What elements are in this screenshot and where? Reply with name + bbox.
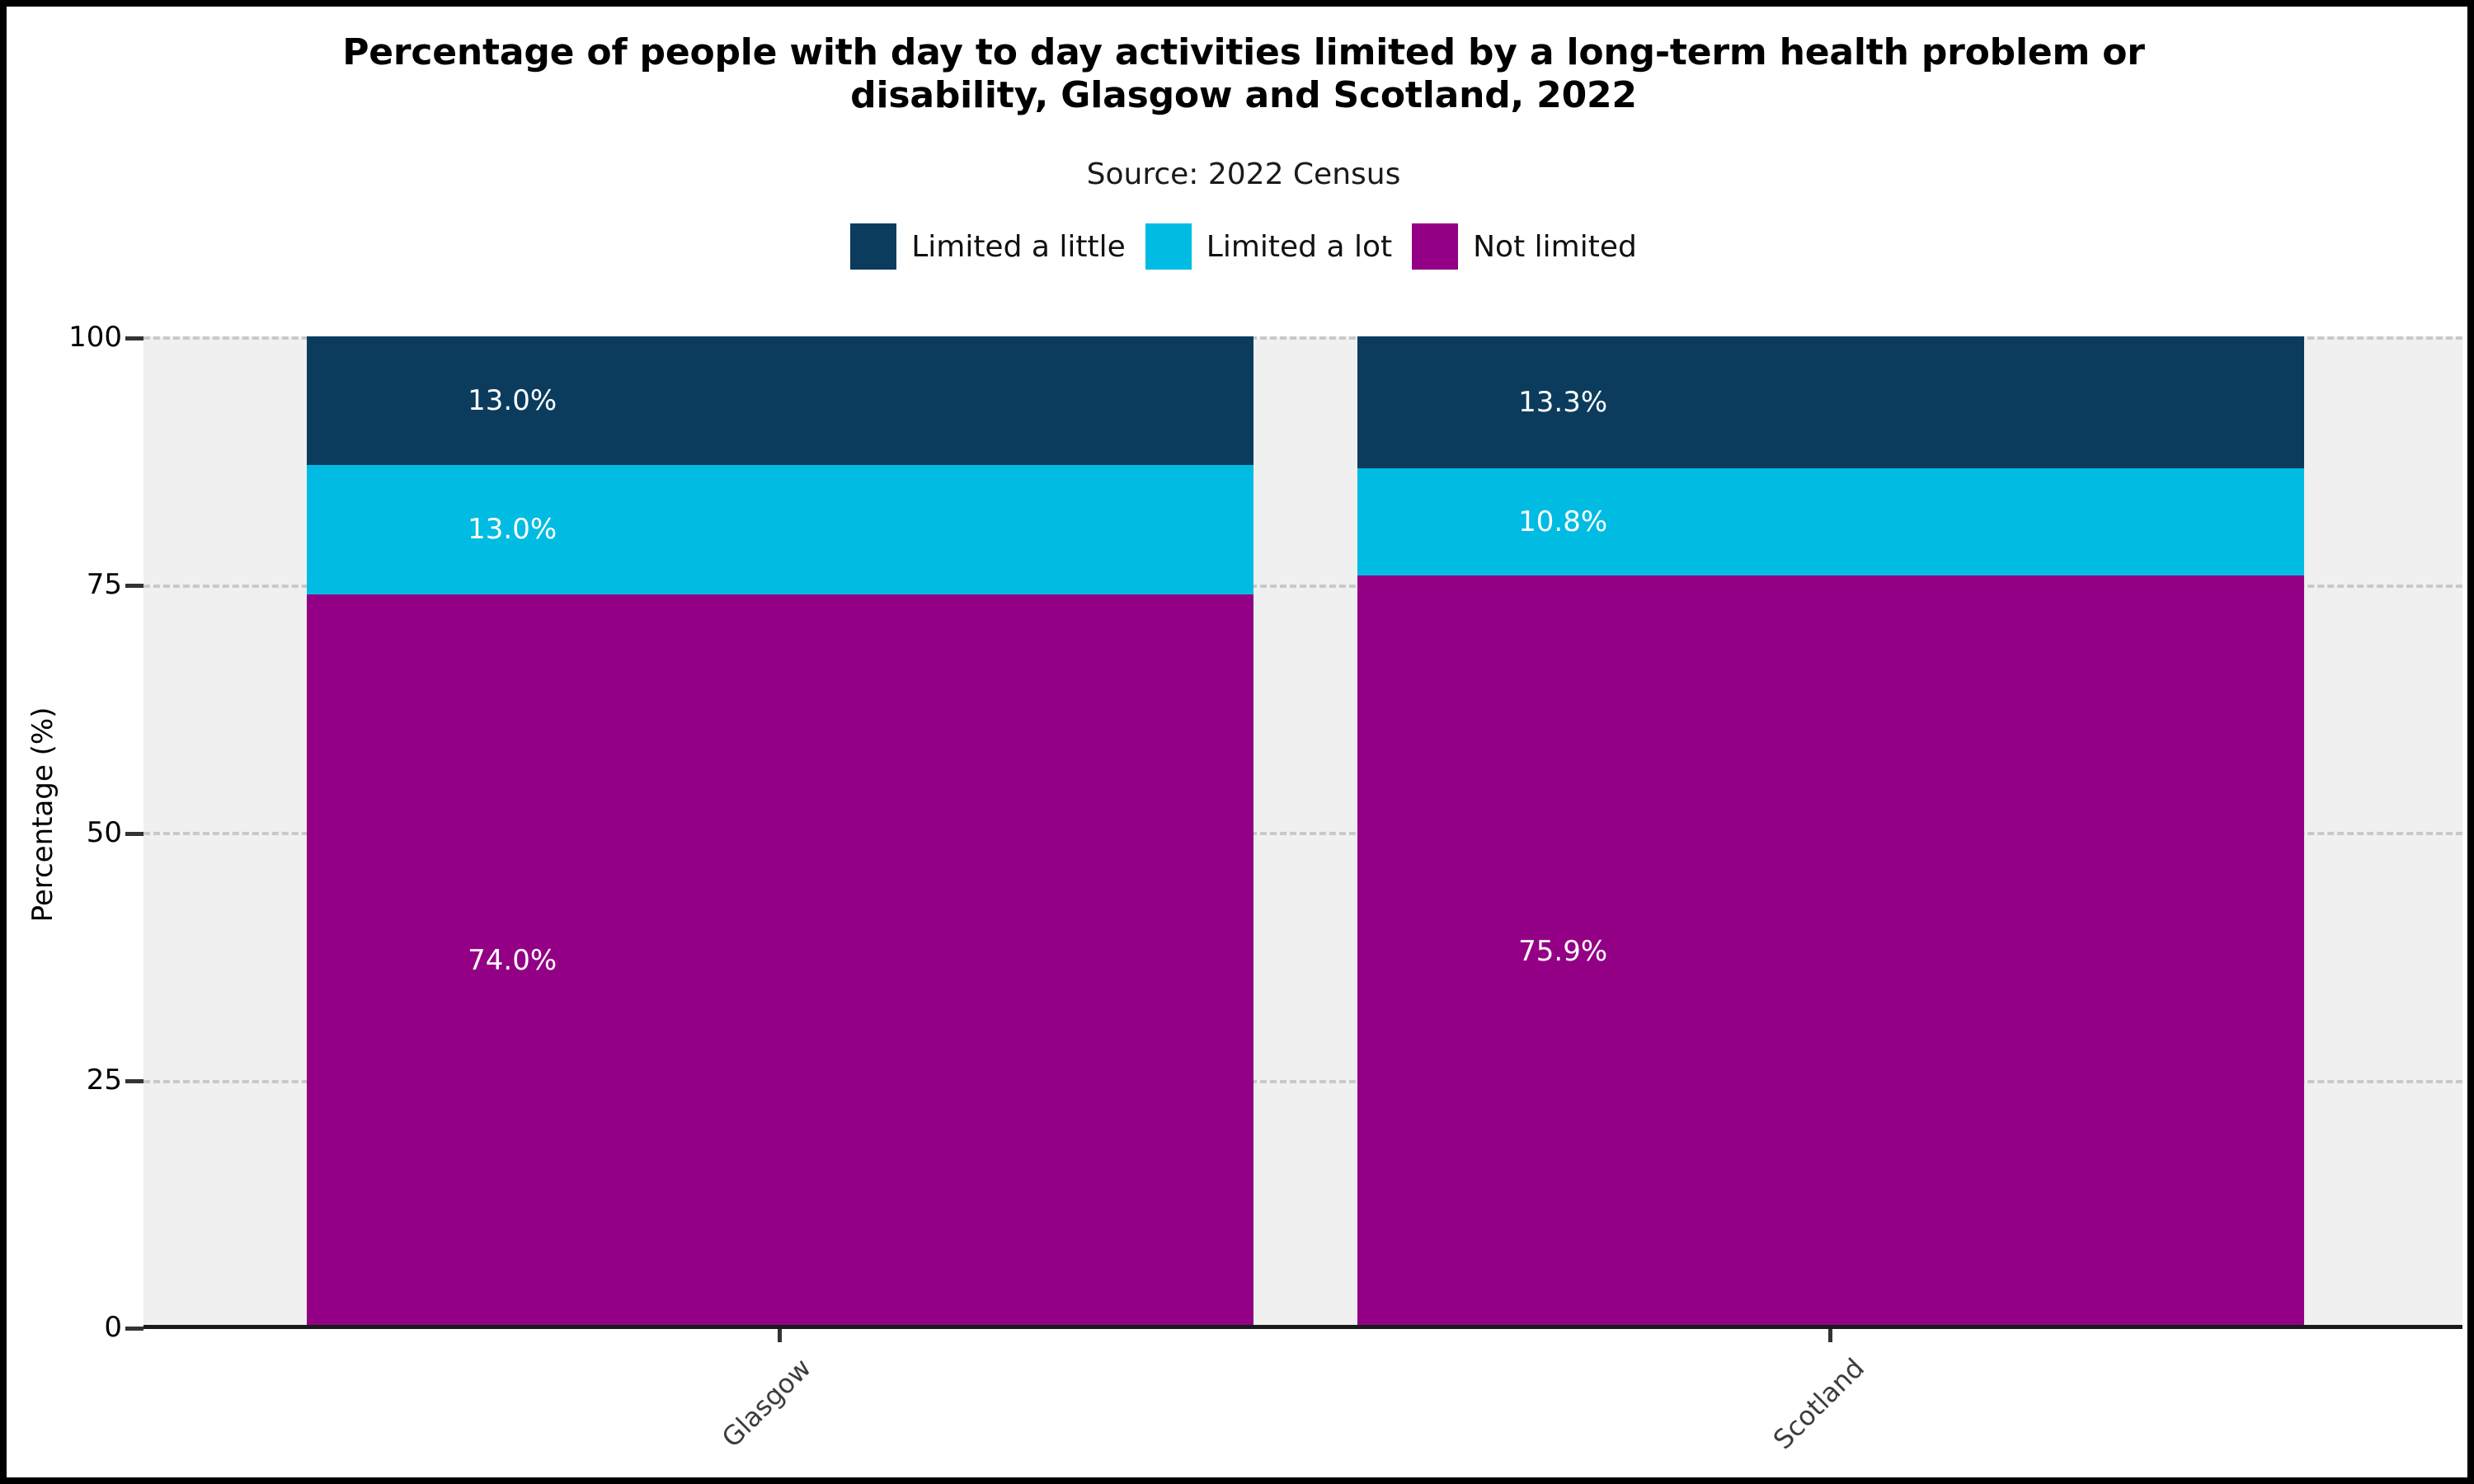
y-tick-mark-75: [125, 584, 143, 588]
y-tick-label-0: 0: [31, 1311, 122, 1344]
legend-item-not-limited[interactable]: Not limited: [1412, 223, 1637, 270]
chart-figure: Percentage of people with day to day act…: [0, 0, 2474, 1484]
bar-value-glasgow-limited-a-little: 13.0%: [468, 384, 557, 417]
y-axis-label: Percentage (%): [26, 501, 59, 1128]
chart-subtitle: Source: 2022 Census: [7, 157, 2474, 191]
bar-value-scotland-limited-a-lot: 10.8%: [1518, 505, 1607, 538]
x-tick-label-scotland: Scotland: [1767, 1352, 1870, 1455]
bar-value-scotland-not-limited: 75.9%: [1518, 935, 1607, 968]
bar-segment-glasgow-not-limited[interactable]: 74.0%: [307, 594, 1253, 1328]
legend-item-limited-a-little[interactable]: Limited a little: [850, 223, 1126, 270]
chart-title: Percentage of people with day to day act…: [7, 31, 2474, 117]
bar-segment-scotland-limited-a-lot[interactable]: 10.8%: [1357, 468, 2304, 575]
x-axis-line: [143, 1325, 2462, 1329]
bar-value-scotland-limited-a-little: 13.3%: [1518, 386, 1607, 419]
y-tick-label-100: 100: [31, 321, 122, 354]
chart-title-line-1: Percentage of people with day to day act…: [7, 31, 2474, 74]
bar-segment-glasgow-limited-a-lot[interactable]: 13.0%: [307, 465, 1253, 594]
legend-swatch-icon-limited-a-little: [850, 223, 896, 270]
legend-label-not-limited: Not limited: [1473, 230, 1637, 264]
bar-value-glasgow-not-limited: 74.0%: [468, 944, 557, 977]
bar-segment-scotland-limited-a-little[interactable]: 13.3%: [1357, 336, 2304, 468]
y-tick-mark-0: [125, 1327, 143, 1331]
x-tick-mark-glasgow: [778, 1329, 782, 1342]
bar-segment-scotland-not-limited[interactable]: 75.9%: [1357, 575, 2304, 1327]
y-tick-mark-50: [125, 832, 143, 836]
y-tick-mark-100: [125, 336, 143, 340]
x-tick-label-glasgow: Glasgow: [716, 1352, 817, 1453]
bar-value-glasgow-limited-a-lot: 13.0%: [468, 513, 557, 546]
bar-segment-glasgow-limited-a-little[interactable]: 13.0%: [307, 336, 1253, 465]
x-tick-mark-scotland: [1828, 1329, 1832, 1342]
legend-label-limited-a-little: Limited a little: [911, 230, 1126, 264]
legend-swatch-icon-limited-a-lot: [1145, 223, 1192, 270]
chart-title-line-2: disability, Glasgow and Scotland, 2022: [7, 74, 2474, 117]
legend-label-limited-a-lot: Limited a lot: [1206, 230, 1392, 264]
chart-legend: Limited a little Limited a lot Not limit…: [7, 223, 2474, 270]
legend-item-limited-a-lot[interactable]: Limited a lot: [1145, 223, 1392, 270]
legend-swatch-icon-not-limited: [1412, 223, 1458, 270]
plot-area: 13.0% 13.0% 74.0% 13.3% 10.8% 75.9%: [143, 336, 2462, 1327]
y-tick-mark-25: [125, 1079, 143, 1083]
